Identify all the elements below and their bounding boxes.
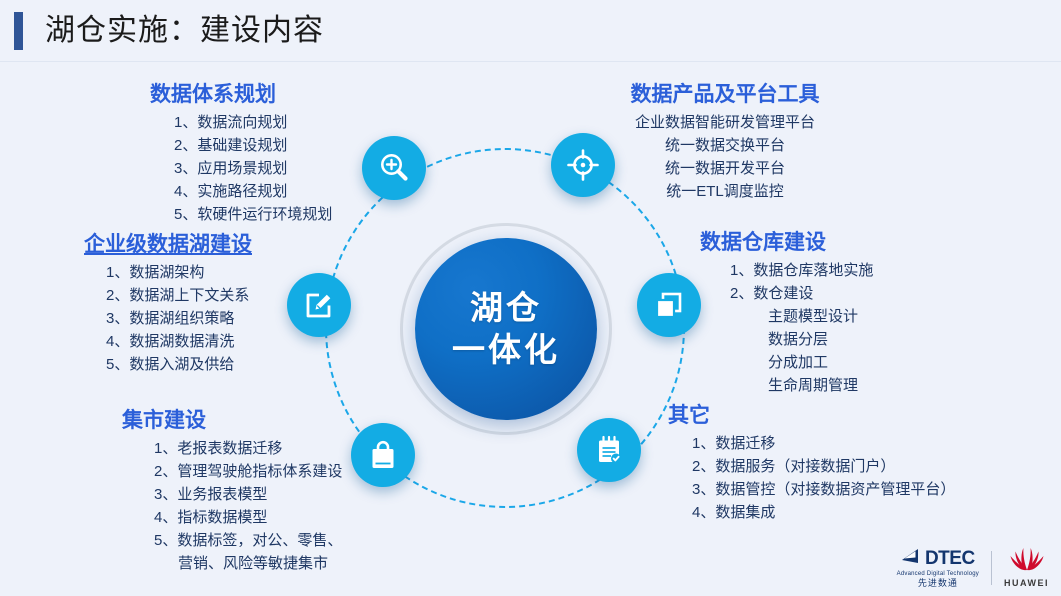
list-item: 1、数据流向规划 bbox=[174, 111, 332, 134]
list-subitem: 主题模型设计 bbox=[730, 305, 873, 328]
list-item: 1、老报表数据迁移 bbox=[154, 437, 342, 460]
list-item: 统一数据交换平台 bbox=[600, 134, 850, 157]
center-label-line2: 一体化 bbox=[452, 329, 560, 371]
block-item-list: 1、数据流向规划 2、基础建设规划 3、应用场景规划 4、实施路径规划 5、软硬… bbox=[150, 111, 332, 226]
huawei-flower-icon bbox=[1009, 547, 1045, 576]
list-subitem: 生命周期管理 bbox=[730, 374, 873, 397]
footer-logos: DTEC Advanced Digital Technology 先进数通 bbox=[897, 547, 1049, 588]
list-item: 4、数据湖数据清洗 bbox=[106, 330, 252, 353]
list-item: 企业数据智能研发管理平台 bbox=[600, 111, 850, 134]
target-icon bbox=[566, 148, 600, 182]
block-bottom-left: 集市建设 1、老报表数据迁移 2、管理驾驶舱指标体系建设 3、业务报表模型 4、… bbox=[122, 408, 342, 575]
logo-divider bbox=[991, 551, 992, 585]
block-item-list: 1、数据迁移 2、数据服务（对接数据门户） 3、数据管控（对接数据资产管理平台）… bbox=[668, 432, 955, 524]
dtec-chinese-name: 先进数通 bbox=[918, 579, 958, 588]
list-item: 5、软硬件运行环境规划 bbox=[174, 203, 332, 226]
list-item: 5、数据入湖及供给 bbox=[106, 353, 252, 376]
list-item: 2、数仓建设 bbox=[730, 282, 873, 305]
block-heading: 企业级数据湖建设 bbox=[84, 232, 252, 258]
list-item: 3、业务报表模型 bbox=[154, 483, 342, 506]
block-item-list: 1、数据湖架构 2、数据湖上下文关系 3、数据湖组织策略 4、数据湖数据清洗 5… bbox=[84, 261, 252, 376]
list-item: 3、数据湖组织策略 bbox=[106, 307, 252, 330]
zoom-in-icon bbox=[377, 151, 411, 185]
list-subitem: 数据分层 bbox=[730, 328, 873, 351]
list-item: 2、基础建设规划 bbox=[174, 134, 332, 157]
huawei-wordmark: HUAWEI bbox=[1004, 578, 1049, 588]
slide-canvas: 湖仓实施：建设内容 湖仓 一体化 bbox=[0, 0, 1061, 596]
huawei-logo: HUAWEI bbox=[1004, 547, 1049, 588]
center-label-line1: 湖仓 bbox=[470, 287, 542, 329]
list-item-continuation: 营销、风险等敏捷集市 bbox=[154, 552, 342, 575]
list-subitem: 分成加工 bbox=[730, 351, 873, 374]
block-heading: 集市建设 bbox=[122, 408, 342, 434]
block-heading: 数据体系规划 bbox=[150, 82, 332, 108]
block-item-list: 1、老报表数据迁移 2、管理驾驶舱指标体系建设 3、业务报表模型 4、指标数据模… bbox=[122, 437, 342, 575]
list-item: 3、数据管控（对接数据资产管理平台） bbox=[692, 478, 955, 501]
copy-layers-icon bbox=[652, 288, 686, 322]
shopping-bag-icon bbox=[366, 438, 400, 472]
block-middle-right: 数据仓库建设 1、数据仓库落地实施 2、数仓建设 主题模型设计 数据分层 分成加… bbox=[700, 230, 873, 397]
list-item: 4、数据集成 bbox=[692, 501, 955, 524]
list-item: 3、应用场景规划 bbox=[174, 157, 332, 180]
node-middle-left[interactable] bbox=[287, 273, 351, 337]
node-top-left[interactable] bbox=[362, 136, 426, 200]
dtec-arrow-icon bbox=[901, 548, 923, 569]
header-divider bbox=[0, 61, 1061, 62]
node-bottom-left[interactable] bbox=[351, 423, 415, 487]
center-hub: 湖仓 一体化 bbox=[415, 238, 597, 420]
node-bottom-right[interactable] bbox=[577, 418, 641, 482]
list-item: 4、指标数据模型 bbox=[154, 506, 342, 529]
block-heading: 数据仓库建设 bbox=[700, 230, 873, 256]
block-item-list: 1、数据仓库落地实施 2、数仓建设 主题模型设计 数据分层 分成加工 生命周期管… bbox=[700, 259, 873, 397]
dtec-wordmark: DTEC bbox=[925, 549, 975, 568]
list-item: 1、数据仓库落地实施 bbox=[730, 259, 873, 282]
page-title: 湖仓实施：建设内容 bbox=[45, 12, 324, 50]
list-item: 统一数据开发平台 bbox=[600, 157, 850, 180]
dtec-logo-row: DTEC bbox=[901, 548, 975, 569]
block-top-right: 数据产品及平台工具 企业数据智能研发管理平台 统一数据交换平台 统一数据开发平台… bbox=[600, 82, 850, 203]
list-item: 2、数据服务（对接数据门户） bbox=[692, 455, 955, 478]
slide-header: 湖仓实施：建设内容 bbox=[0, 0, 1061, 62]
list-item: 1、数据湖架构 bbox=[106, 261, 252, 284]
block-heading: 数据产品及平台工具 bbox=[600, 82, 850, 108]
block-top-left: 数据体系规划 1、数据流向规划 2、基础建设规划 3、应用场景规划 4、实施路径… bbox=[150, 82, 332, 226]
block-heading: 其它 bbox=[668, 403, 955, 429]
node-middle-right[interactable] bbox=[637, 273, 701, 337]
list-item: 4、实施路径规划 bbox=[174, 180, 332, 203]
block-middle-left: 企业级数据湖建设 1、数据湖架构 2、数据湖上下文关系 3、数据湖组织策略 4、… bbox=[84, 232, 252, 376]
dtec-tagline: Advanced Digital Technology bbox=[897, 571, 979, 577]
list-item: 2、数据湖上下文关系 bbox=[106, 284, 252, 307]
edit-square-icon bbox=[302, 288, 336, 322]
notepad-check-icon bbox=[592, 433, 626, 467]
list-item: 统一ETL调度监控 bbox=[600, 180, 850, 203]
block-item-list: 企业数据智能研发管理平台 统一数据交换平台 统一数据开发平台 统一ETL调度监控 bbox=[600, 111, 850, 203]
block-bottom-right: 其它 1、数据迁移 2、数据服务（对接数据门户） 3、数据管控（对接数据资产管理… bbox=[668, 403, 955, 524]
list-item: 1、数据迁移 bbox=[692, 432, 955, 455]
list-item: 2、管理驾驶舱指标体系建设 bbox=[154, 460, 342, 483]
dtec-logo: DTEC Advanced Digital Technology 先进数通 bbox=[897, 548, 979, 588]
title-accent-bar bbox=[14, 12, 23, 50]
list-item: 5、数据标签，对公、零售、 bbox=[154, 529, 342, 552]
